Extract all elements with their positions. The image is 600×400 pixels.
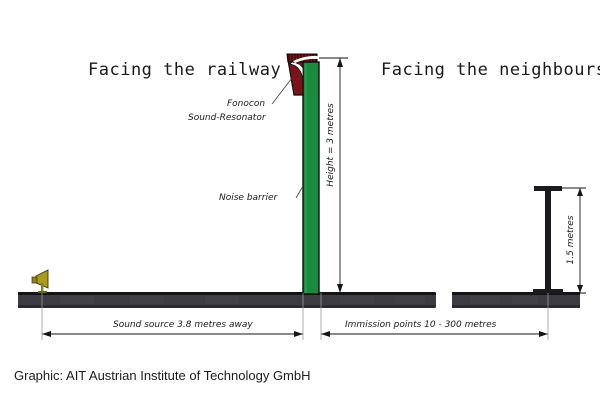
diagram-canvas: Facing the railway Facing the neighbours…: [0, 0, 600, 400]
label-sound-source-distance: Sound source 3.8 metres away: [113, 320, 253, 330]
label-sound-resonator: Sound-Resonator: [188, 113, 266, 123]
heading-facing-neighbours: Facing the neighbours: [381, 60, 600, 80]
label-noise-barrier: Noise barrier: [219, 193, 277, 203]
leader-lines: [272, 78, 303, 198]
graphic-credit-caption: Graphic: AIT Austrian Institute of Techn…: [14, 368, 311, 383]
loudspeaker-icon: [32, 270, 48, 293]
label-fonocon: Fonocon: [227, 99, 265, 109]
noise-barrier-column: [303, 62, 319, 294]
ground-strip-right: [452, 292, 580, 308]
heading-facing-railway: Facing the railway: [88, 60, 281, 80]
ground-strip-left: [18, 292, 436, 308]
label-barrier-height: Height = 3 metres: [326, 103, 336, 186]
label-post-height: 1.5 metres: [566, 216, 576, 265]
label-immission-points: Immission points 10 - 300 metres: [345, 320, 496, 330]
i-beam-post-icon: [533, 186, 563, 294]
